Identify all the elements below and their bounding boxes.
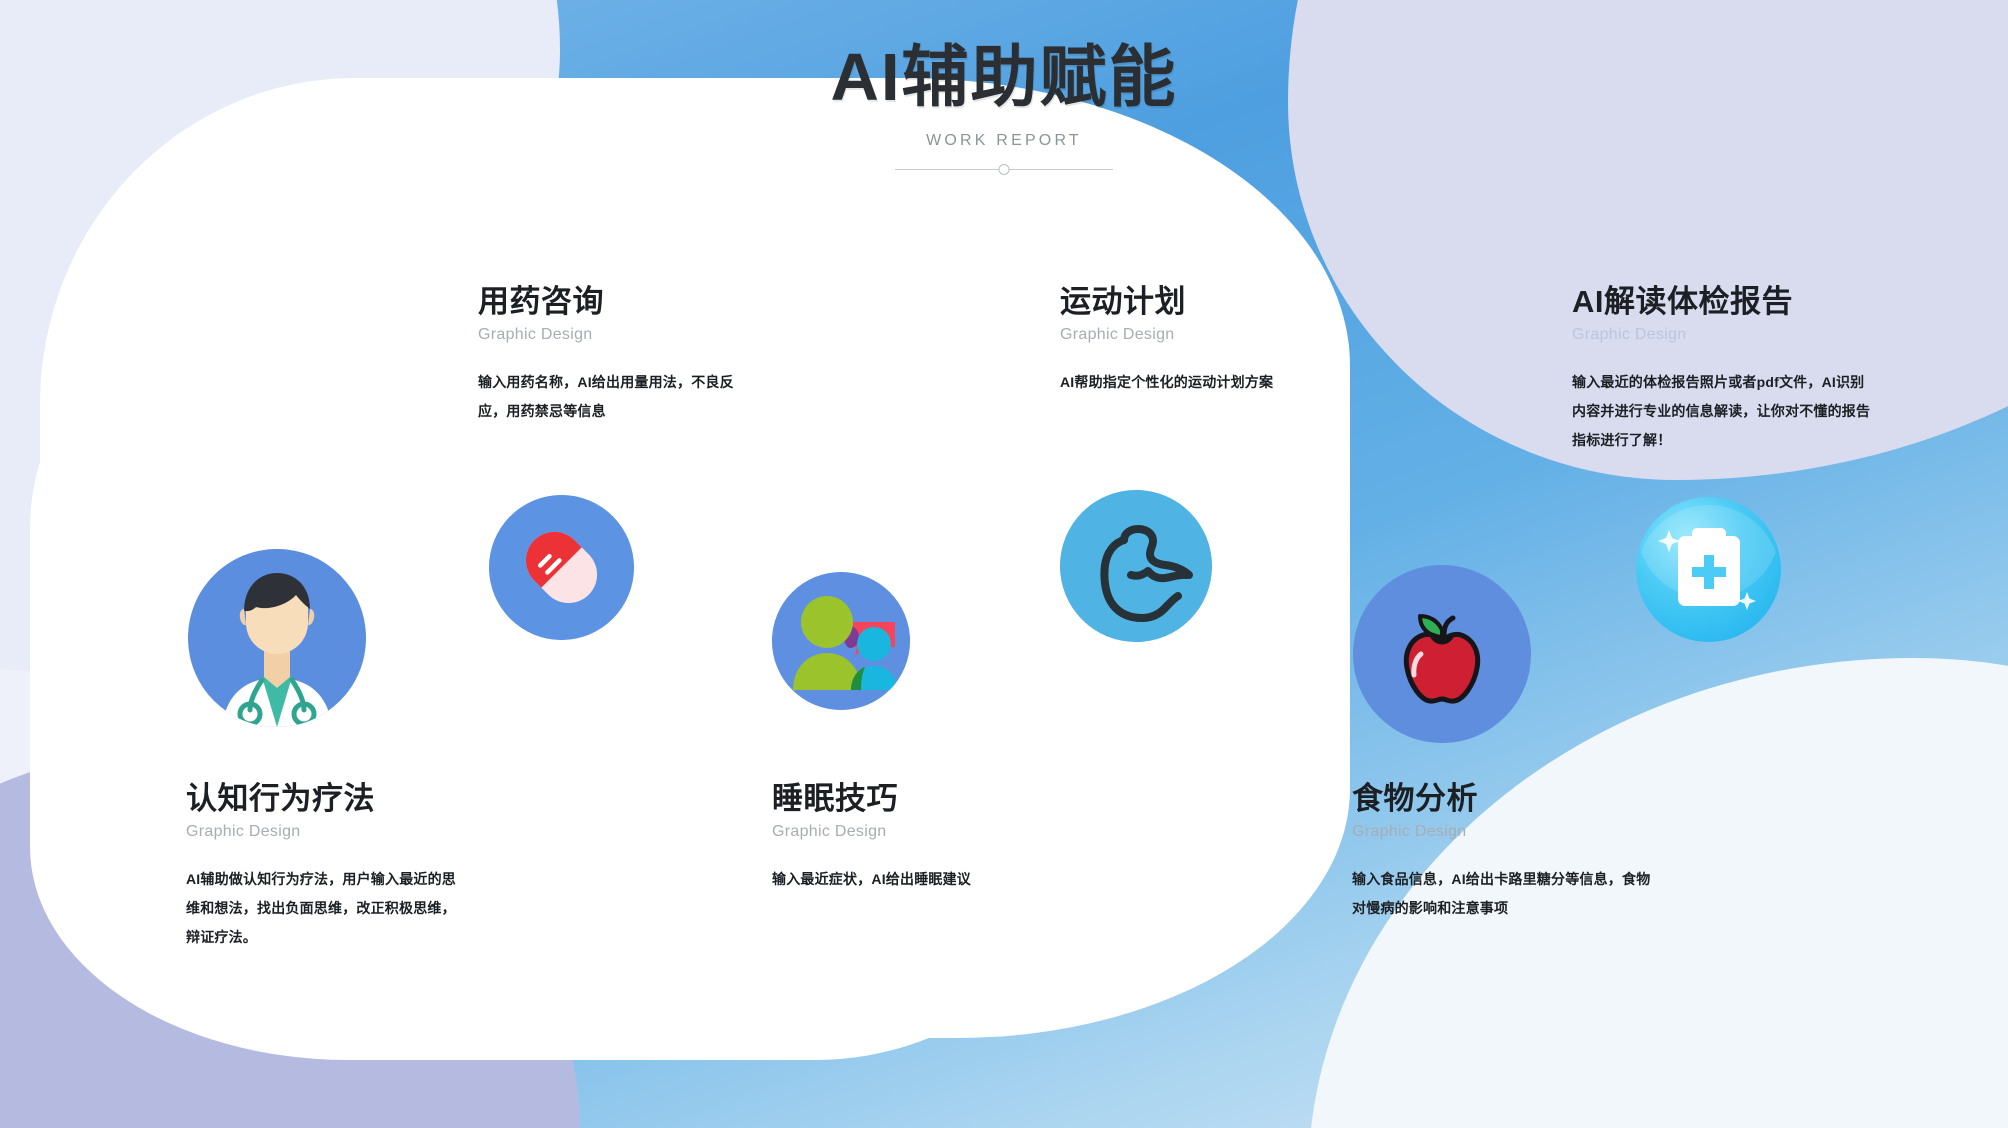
muscle-icon <box>1060 490 1212 642</box>
feature-title: 睡眠技巧 <box>772 780 971 817</box>
feature-subtitle: Graphic Design <box>772 823 971 841</box>
feature-description: 输入食品信息，AI给出卡路里糖分等信息，食物对慢病的影响和注意事项 <box>1352 865 1652 922</box>
feature-sleep-tips[interactable]: 睡眠技巧 Graphic Design 输入最近症状，AI给出睡眠建议 <box>772 780 971 894</box>
page-subtitle: WORK REPORT <box>0 132 2008 150</box>
medical-clipboard-icon <box>1636 497 1781 642</box>
feature-description: 输入用药名称，AI给出用量用法，不良反应，用药禁忌等信息 <box>478 368 748 425</box>
feature-title: 运动计划 <box>1060 283 1273 320</box>
feature-subtitle: Graphic Design <box>478 326 748 344</box>
feature-description: 输入最近症状，AI给出睡眠建议 <box>772 865 971 894</box>
feature-subtitle: Graphic Design <box>1060 326 1273 344</box>
feature-subtitle: Graphic Design <box>1572 326 1872 344</box>
feature-description: AI帮助指定个性化的运动计划方案 <box>1060 368 1273 397</box>
feature-medication-consultation[interactable]: 用药咨询 Graphic Design 输入用药名称，AI给出用量用法，不良反应… <box>478 283 748 426</box>
doctor-avatar-icon <box>188 549 366 727</box>
feature-title: 用药咨询 <box>478 283 748 320</box>
people-talking-icon <box>772 572 910 710</box>
page-title: AI辅助赋能 <box>0 36 2008 120</box>
feature-title: 食物分析 <box>1352 780 1652 817</box>
feature-food-analysis[interactable]: 食物分析 Graphic Design 输入食品信息，AI给出卡路里糖分等信息，… <box>1352 780 1652 923</box>
slide-header: AI辅助赋能 WORK REPORT <box>0 36 2008 176</box>
feature-description: AI辅助做认知行为疗法，用户输入最近的思维和想法，找出负面思维，改正积极思维，辩… <box>186 865 456 951</box>
feature-title: 认知行为疗法 <box>186 780 456 817</box>
feature-ai-health-report[interactable]: AI解读体检报告 Graphic Design 输入最近的体检报告照片或者pdf… <box>1572 283 1872 454</box>
feature-subtitle: Graphic Design <box>1352 823 1652 841</box>
divider-dot-icon <box>999 164 1010 175</box>
feature-exercise-plan[interactable]: 运动计划 Graphic Design AI帮助指定个性化的运动计划方案 <box>1060 283 1273 397</box>
feature-title: AI解读体检报告 <box>1572 283 1872 320</box>
apple-icon <box>1353 565 1531 743</box>
pill-icon <box>489 495 634 640</box>
feature-description: 输入最近的体检报告照片或者pdf文件，AI识别内容并进行专业的信息解读，让你对不… <box>1572 368 1872 454</box>
feature-subtitle: Graphic Design <box>186 823 456 841</box>
header-divider <box>895 164 1113 176</box>
feature-cognitive-behavioral-therapy[interactable]: 认知行为疗法 Graphic Design AI辅助做认知行为疗法，用户输入最近… <box>186 780 456 951</box>
slide-canvas: AI辅助赋能 WORK REPORT 用药咨询 Graphic Design 输… <box>0 0 2008 1128</box>
